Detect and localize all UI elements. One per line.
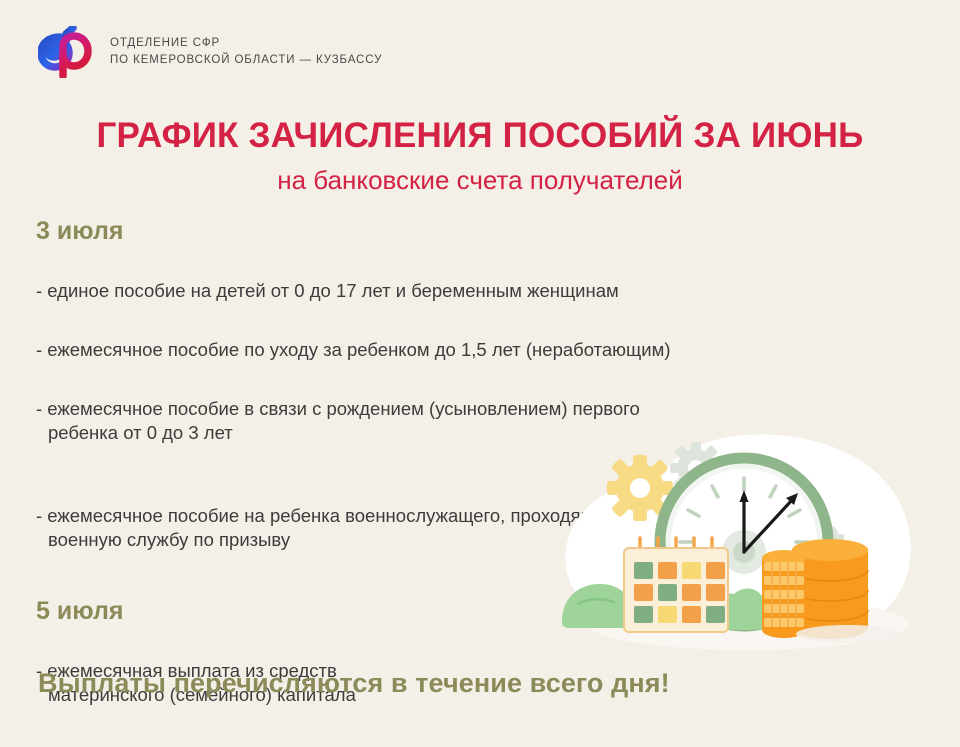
benefit-item: - единое пособие на детей от 0 до 17 лет… — [36, 255, 926, 303]
benefit-item: - ежемесячное пособие по уходу за ребенк… — [36, 314, 926, 362]
day-block-5: 5 июля - ежемесячная выплата из средств … — [36, 598, 556, 731]
coin-shadow — [796, 625, 900, 643]
clock-calendar-coins-illustration — [548, 426, 952, 674]
benefit-line-1: - ежемесячное пособие на ребенка военнос… — [36, 505, 623, 526]
page-title: ГРАФИК ЗАЧИСЛЕНИЯ ПОСОБИЙ ЗА ИЮНЬ — [0, 118, 960, 155]
day-heading: 5 июля — [36, 598, 556, 626]
day-heading: 3 июля — [36, 218, 926, 246]
calendar-icon — [624, 538, 728, 632]
poster-root: ОТДЕЛЕНИЕ СФР ПО КЕМЕРОВСКОЙ ОБЛАСТИ — К… — [0, 0, 960, 747]
benefit-line-1: - единое пособие на детей от 0 до 17 лет… — [36, 280, 619, 301]
org-line-2: ПО КЕМЕРОВСКОЙ ОБЛАСТИ — КУЗБАССУ — [110, 54, 382, 67]
page-subtitle: на банковские счета получателей — [0, 166, 960, 196]
brand-header: ОТДЕЛЕНИЕ СФР ПО КЕМЕРОВСКОЙ ОБЛАСТИ — К… — [38, 26, 382, 78]
org-line-1: ОТДЕЛЕНИЕ СФР — [110, 37, 382, 50]
benefit-line-1: - ежемесячное пособие в связи с рождение… — [36, 398, 640, 419]
coin-stack-icon — [762, 539, 868, 639]
sfr-logo-icon — [38, 26, 96, 78]
org-name: ОТДЕЛЕНИЕ СФР ПО КЕМЕРОВСКОЙ ОБЛАСТИ — К… — [110, 37, 382, 66]
benefit-line-1: - ежемесячное пособие по уходу за ребенк… — [36, 339, 670, 360]
